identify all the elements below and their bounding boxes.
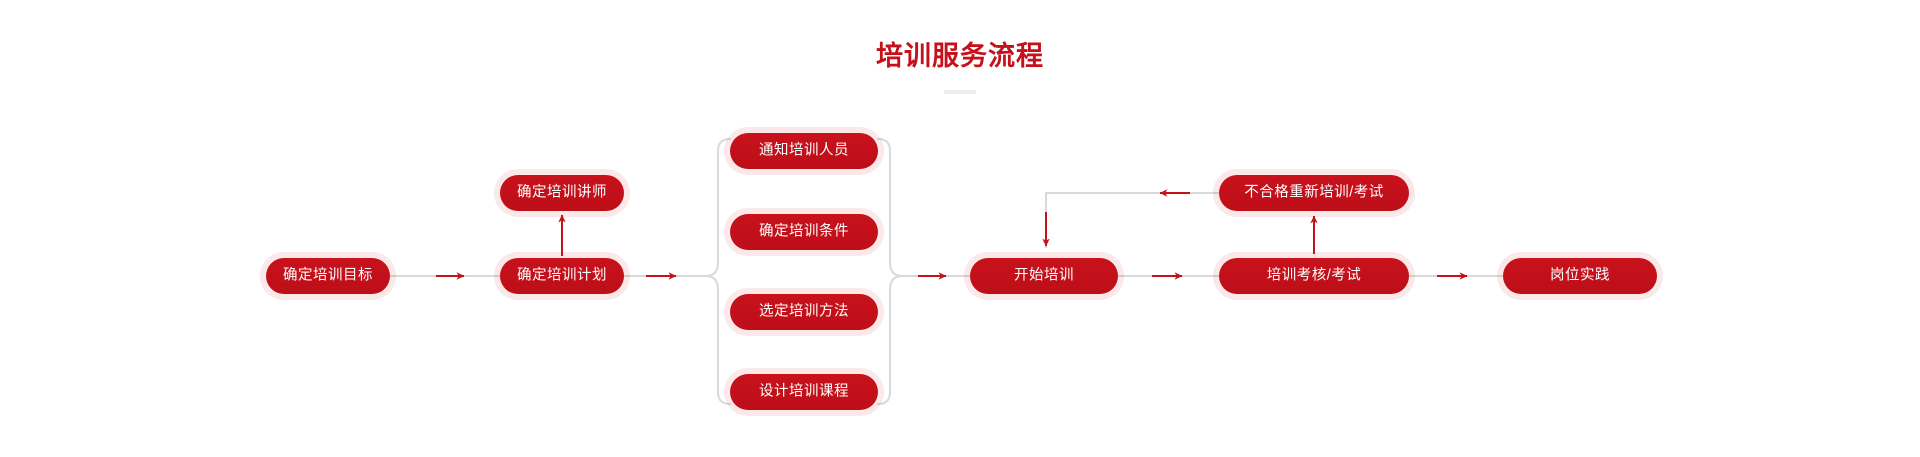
node-label: 确定培训目标 bbox=[283, 268, 373, 283]
node-label: 培训考核/考试 bbox=[1267, 268, 1362, 283]
node-determine-training-goal[interactable]: 确定培训目标 bbox=[266, 258, 390, 294]
node-on-the-job-practice[interactable]: 岗位实践 bbox=[1503, 258, 1657, 294]
node-determine-training-instructor[interactable]: 确定培训讲师 bbox=[500, 175, 624, 211]
edge-retrain-to-start bbox=[1046, 193, 1219, 248]
node-label: 确定培训计划 bbox=[517, 268, 607, 283]
group-bracket-left bbox=[706, 139, 730, 404]
node-label: 确定培训条件 bbox=[759, 224, 849, 239]
node-design-training-course[interactable]: 设计培训课程 bbox=[730, 374, 878, 410]
node-notify-trainees[interactable]: 通知培训人员 bbox=[730, 133, 878, 169]
node-label: 不合格重新培训/考试 bbox=[1244, 185, 1384, 200]
flow-connectors bbox=[0, 0, 1920, 457]
node-training-assessment-exam[interactable]: 培训考核/考试 bbox=[1219, 258, 1409, 294]
node-start-training[interactable]: 开始培训 bbox=[970, 258, 1118, 294]
node-label: 通知培训人员 bbox=[759, 143, 849, 158]
node-determine-training-conditions[interactable]: 确定培训条件 bbox=[730, 214, 878, 250]
node-label: 开始培训 bbox=[1014, 268, 1074, 283]
group-bracket-right bbox=[878, 139, 902, 404]
node-label: 选定培训方法 bbox=[759, 304, 849, 319]
node-label: 确定培训讲师 bbox=[517, 185, 607, 200]
node-label: 岗位实践 bbox=[1550, 268, 1610, 283]
node-select-training-method[interactable]: 选定培训方法 bbox=[730, 294, 878, 330]
node-label: 设计培训课程 bbox=[759, 384, 849, 399]
node-determine-training-plan[interactable]: 确定培训计划 bbox=[500, 258, 624, 294]
flowchart-canvas: 确定培训目标 确定培训计划 确定培训讲师 通知培训人员 确定培训条件 选定培训方… bbox=[0, 0, 1920, 457]
node-failed-retrain-retest[interactable]: 不合格重新培训/考试 bbox=[1219, 175, 1409, 211]
